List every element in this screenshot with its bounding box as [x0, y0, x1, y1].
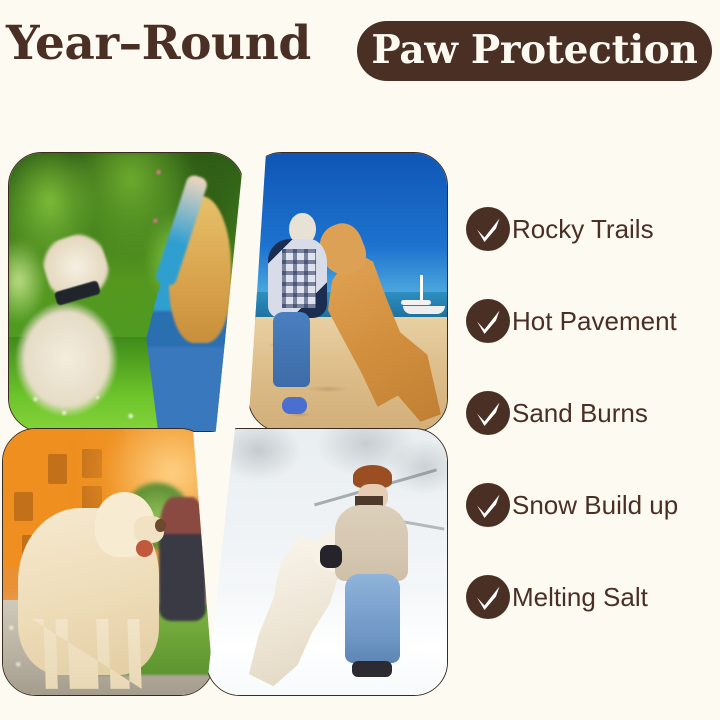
- photo-spring-park: [8, 152, 244, 432]
- feature-item-melting-salt: Melting Salt: [466, 574, 648, 620]
- sailboat-hull: [401, 300, 431, 305]
- title-highlight-pill: Paw Protection: [357, 21, 712, 81]
- poster-canvas: Year–Round Paw Protection: [0, 0, 720, 720]
- rope-toy: [143, 165, 174, 255]
- yellow-labrador-nose: [155, 519, 166, 533]
- photo-beach-sand: [248, 152, 448, 432]
- photo-collage: [0, 140, 455, 710]
- feature-label: Snow Build up: [512, 492, 678, 518]
- man-boots: [352, 661, 392, 678]
- feature-item-sand-burns: Sand Burns: [466, 390, 648, 436]
- man-sweater: [335, 505, 408, 581]
- photo-garden-path: [2, 428, 214, 696]
- man-glove: [320, 545, 342, 568]
- feature-label: Hot Pavement: [512, 308, 677, 334]
- title-highlight-text: Paw Protection: [371, 31, 697, 70]
- moored-boat: [403, 306, 445, 314]
- winter-man: [332, 465, 415, 676]
- check-circle-icon: [466, 391, 510, 435]
- person-jeans: [273, 312, 309, 387]
- photo-winter-snow: [206, 428, 448, 696]
- person-plaid-shirt: [282, 249, 315, 308]
- yellow-labrador-tongue: [136, 540, 153, 556]
- check-circle-icon: [466, 483, 510, 527]
- photo-garden-path-image: [2, 428, 214, 696]
- page-title: Year–Round: [6, 16, 311, 71]
- feature-item-rocky-trails: Rocky Trails: [466, 206, 654, 252]
- feature-item-hot-pavement: Hot Pavement: [466, 298, 677, 344]
- feature-label: Rocky Trails: [512, 216, 654, 242]
- photo-winter-snow-image: [206, 428, 448, 696]
- wall-square: [48, 454, 67, 484]
- photo-spring-park-image: [8, 152, 244, 432]
- check-circle-icon: [466, 299, 510, 343]
- feature-item-snow-build-up: Snow Build up: [466, 482, 678, 528]
- feature-label: Sand Burns: [512, 400, 648, 426]
- man-jeans: [345, 574, 400, 662]
- photo-beach-sand-image: [248, 152, 448, 432]
- feature-label: Melting Salt: [512, 584, 648, 610]
- crouching-person: [159, 497, 206, 621]
- beach-person: [263, 213, 336, 410]
- wall-square: [14, 492, 33, 522]
- check-circle-icon: [466, 207, 510, 251]
- check-circle-icon: [466, 575, 510, 619]
- person-shoes: [282, 397, 307, 415]
- poster-header: Year–Round Paw Protection: [0, 0, 720, 106]
